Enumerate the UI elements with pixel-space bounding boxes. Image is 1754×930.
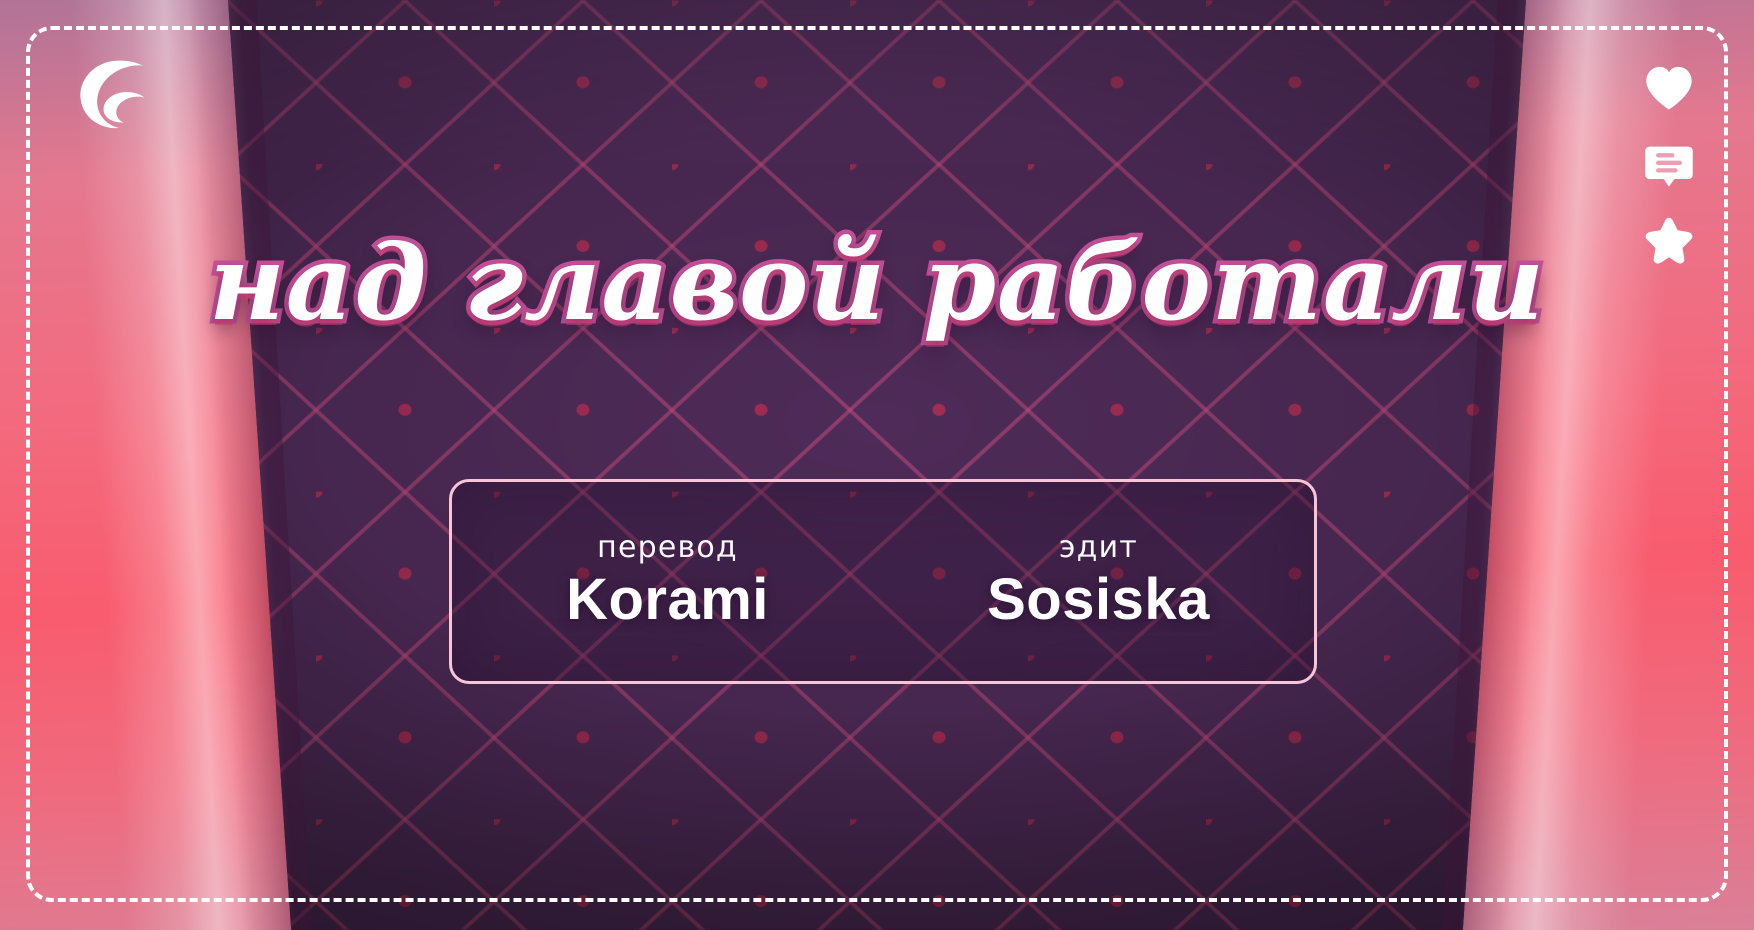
moon-icon[interactable] [74, 56, 154, 136]
credit-role-label: перевод [460, 531, 875, 564]
credit-column-translation: перевод Korami [452, 531, 883, 633]
credit-role-label: эдит [891, 531, 1306, 564]
credit-name-value: Korami [460, 568, 875, 633]
comment-icon[interactable] [1642, 138, 1696, 192]
heart-icon[interactable] [1642, 62, 1696, 116]
credit-column-edit: эдит Sosiska [883, 531, 1314, 633]
credits-slide: над главой работали перевод Korami эдит … [0, 0, 1754, 930]
star-icon[interactable] [1642, 214, 1696, 268]
icon-rail [1638, 62, 1700, 268]
credit-name-value: Sosiska [891, 568, 1306, 633]
credits-card: перевод Korami эдит Sosiska [449, 479, 1317, 684]
